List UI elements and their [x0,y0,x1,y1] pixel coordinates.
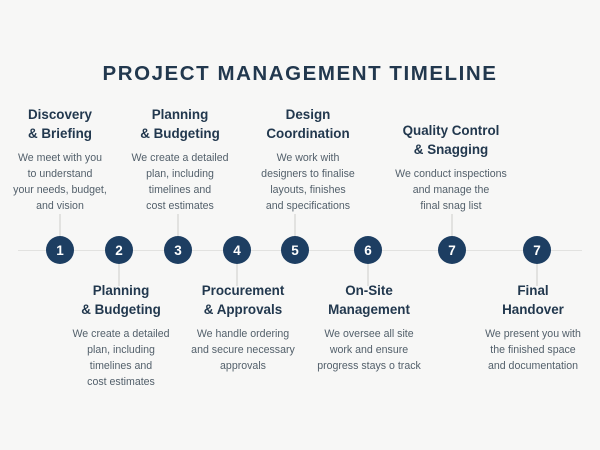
timeline-connector-stem [177,214,179,238]
timeline-connector-stem [294,214,296,238]
timeline-step-label: Planning & BudgetingWe create a detailed… [118,105,242,214]
step-description: We handle ordering and secure necessary … [179,326,307,374]
step-description: We oversee all site work and ensure prog… [305,326,433,374]
timeline-step-marker[interactable]: 4 [223,236,251,264]
step-heading: Discovery & Briefing [0,105,122,143]
timeline-step-marker[interactable]: 7 [523,236,551,264]
step-heading: Design Coordination [243,105,373,143]
step-description: We conduct inspections and manage the fi… [381,166,521,214]
step-heading: Final Handover [465,281,600,319]
timeline-step-label: Final HandoverWe present you with the fi… [465,281,600,374]
timeline-connector-stem [59,214,61,238]
timeline-step-label: Procurement & ApprovalsWe handle orderin… [179,281,307,374]
timeline-step-label: Planning & BudgetingWe create a detailed… [59,281,183,390]
timeline-step-marker[interactable]: 3 [164,236,192,264]
step-description: We create a detailed plan, including tim… [118,150,242,214]
step-description: We meet with you to understand your need… [0,150,122,214]
timeline-infographic: PROJECT MANAGEMENT TIMELINE 1Discovery &… [0,0,600,450]
step-heading: Planning & Budgeting [59,281,183,319]
timeline-step-marker[interactable]: 2 [105,236,133,264]
timeline-step-marker[interactable]: 5 [281,236,309,264]
timeline-step-label: On-Site ManagementWe oversee all site wo… [305,281,433,374]
timeline-step-label: Discovery & BriefingWe meet with you to … [0,105,122,214]
step-heading: Planning & Budgeting [118,105,242,143]
step-description: We work with designers to finalise layou… [243,150,373,214]
step-description: We create a detailed plan, including tim… [59,326,183,390]
timeline-step-marker[interactable]: 6 [354,236,382,264]
step-heading: On-Site Management [305,281,433,319]
timeline-step-marker[interactable]: 7 [438,236,466,264]
step-description: We present you with the finished space a… [465,326,600,374]
timeline-step-label: Design CoordinationWe work with designer… [243,105,373,214]
step-heading: Quality Control & Snagging [381,121,521,159]
timeline-connector-stem [451,214,453,238]
timeline-step-label: Quality Control & SnaggingWe conduct ins… [381,121,521,214]
page-title: PROJECT MANAGEMENT TIMELINE [0,62,600,86]
timeline-step-marker[interactable]: 1 [46,236,74,264]
step-heading: Procurement & Approvals [179,281,307,319]
